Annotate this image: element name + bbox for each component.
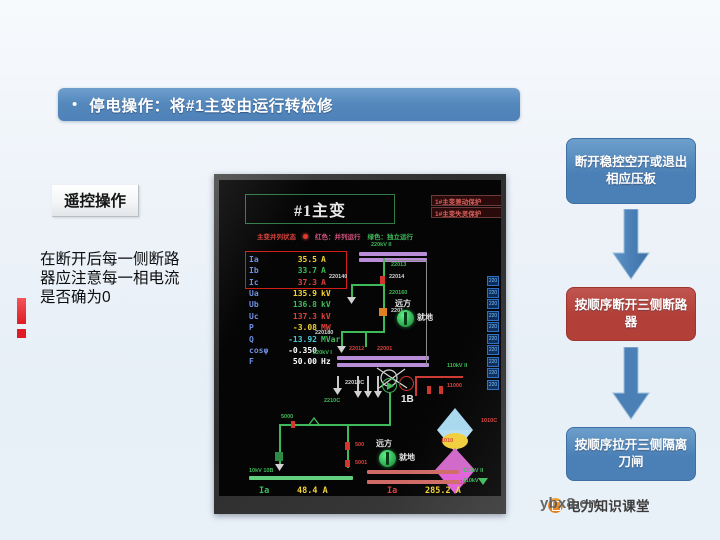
remote-operation-label: 遥控操作 [64,193,126,210]
switch-tag-11000: 11000 [447,383,462,389]
bus-label-110-i: 110kV I [463,478,482,484]
scada-screen-photo: #1主变 1#主变差动保护 1#主变失灵保护 主变并列状态 红色：并列运行 绿色… [214,174,506,514]
scada-title: #1主变 [294,197,346,221]
meas-label: Ub [249,299,275,310]
side-button[interactable]: 220 [487,345,499,355]
bottom-readout-label-1: Ia [259,486,269,496]
meas-value: 135.9 [275,288,317,299]
meas-label: Ib [249,265,275,276]
selector-knob-icon[interactable] [397,310,414,327]
scada-title-box: #1主变 [245,194,395,224]
ground-symbol-icon [346,295,357,306]
scada-legend: 主变并列状态 红色：并列运行 绿色：独立运行 [257,230,472,242]
measurement-row: Uc 137.3 kV [249,311,343,322]
breaker-aux[interactable] [439,386,443,394]
meas-unit: kV [317,299,343,310]
switch-tag-1010C: 1010C [481,418,497,424]
side-button[interactable]: 220 [487,357,499,367]
switch-tag-22010C: 22010C [345,380,364,386]
ground-symbol-icon [336,344,347,355]
selector-remote-label-1: 远方 [395,298,411,309]
protection-label-failure[interactable]: 1#主变失灵保护 [431,207,501,218]
meas-unit: A [317,254,343,265]
legend-dot-icon [303,234,308,239]
transformer-symbol-red[interactable] [399,376,414,391]
selector-knob-icon[interactable] [379,450,396,467]
busbar-110-i [367,480,459,484]
branch-line [415,376,417,396]
branch-line [389,393,391,425]
loop-line [383,260,427,261]
meas-unit: kV [317,311,343,322]
transformer-label-1b: 1B [401,394,414,405]
meas-label: cosφ [249,345,275,356]
meas-value: 137.3 [275,311,317,322]
ground-symbol-icon [274,463,285,473]
side-button-strip[interactable]: 220 220 220 220 220 220 220 220 220 220 [487,276,500,391]
breaker-2201[interactable] [379,308,387,316]
ground-symbol-icon [353,390,363,399]
meas-label: Q [249,334,275,345]
breaker-500[interactable] [345,442,350,450]
bottom-readout-value-2: 285.2 A [425,486,461,496]
protection-label-2-text: 1#主变失灵保护 [435,208,481,218]
switch-tag-5000: 5000 [281,414,293,420]
busbar-110-ii [367,470,459,474]
bus-label-10kv: 10kV 10B [249,468,273,474]
legend-red-text: 红色：并列运行 [315,231,361,241]
switch-tag-22012: 22012 [349,346,364,352]
meas-value: -13.92 [275,334,317,345]
measurement-row: Ua 135.9 kV [249,288,343,299]
watermark-url-text: ybx8.cn [540,495,597,512]
left-note-text: 在断开后每一侧断路器应注意每一相电流是否确为0 [40,250,180,308]
measurement-row: Ia 35.5 A [249,254,343,265]
measurement-row: F 50.00 Hz [249,356,343,367]
branch-line [351,284,383,286]
disconnector-icon[interactable] [307,416,321,428]
slide-root: • 停电操作：将#1主变由运行转检修 遥控操作 在断开后每一侧断路器应注意每一相… [0,0,720,540]
bottom-readout-value-1: 48.4 A [297,486,328,496]
bus-label-110-ii: 110kV II [463,468,483,474]
side-button[interactable]: 220 [487,334,499,344]
meas-label: P [249,322,275,333]
side-button[interactable]: 220 [487,299,499,309]
transformer-symbol-1b[interactable] [382,378,397,393]
watermark: 电力知识课堂 ybx8.cn [548,492,650,518]
legend-green-text: 绿色：独立运行 [368,231,414,241]
meas-label: Uc [249,311,275,322]
busbar-10kv [249,476,353,480]
slide-title-banner: • 停电操作：将#1主变由运行转检修 [58,88,520,121]
branch-line [365,331,367,347]
branch-line [279,424,391,426]
scada-display: #1主变 1#主变差动保护 1#主变失灵保护 主变并列状态 红色：并列运行 绿色… [219,180,501,496]
meas-value: 136.8 [275,299,317,310]
bus-label-110-2: 110kV II [447,363,467,369]
switch-tag-1010: 1010 [441,438,453,444]
meas-label: Ic [249,277,275,288]
exclamation-icon [16,298,28,338]
busbar-220-i [337,356,429,360]
protection-label-1-text: 1#主变差动保护 [435,196,481,206]
flow-step-2[interactable]: 按顺序断开三侧断路器 [566,287,696,341]
side-button[interactable]: 220 [487,322,499,332]
branch-line [383,316,385,332]
switch-tag-22013: 22013 [391,262,406,268]
switch-tag-500: 500 [355,442,364,448]
branch-line [383,284,385,308]
meas-unit: kV [317,288,343,299]
protection-label-differential[interactable]: 1#主变差动保护 [431,195,501,206]
side-button[interactable]: 220 [487,288,499,298]
meas-label: Ia [249,254,275,265]
meas-value: 35.5 [275,254,317,265]
switch-tag-220140: 220140 [329,274,347,280]
measurement-row: Ub 136.8 kV [249,299,343,310]
switch-tag-220180: 220180 [315,330,333,336]
legend-prefix: 主变并列状态 [257,231,296,241]
side-button[interactable]: 220 [487,380,499,390]
meas-value: 50.00 [275,356,317,367]
bus-label-220-1: 220kV I [313,350,332,356]
bottom-readout-label-2: Ia [387,486,397,496]
breaker-5001[interactable] [345,460,350,467]
side-button[interactable]: 220 [487,276,499,286]
flow-arrow-2-icon [612,347,650,421]
ground-symbol-icon [332,386,343,397]
switch-tag-5001: 5001 [355,460,367,466]
switch-tag-22001: 22001 [377,346,392,352]
side-button[interactable]: 220 [487,368,499,378]
selector-local-label-2: 就地 [399,452,415,463]
branch-line [341,331,385,333]
meas-value: 37.3 [275,277,317,288]
breaker-11000[interactable] [427,386,431,394]
selector-remote-label-2: 远方 [376,438,392,449]
ground-symbol-icon [363,390,373,399]
remote-operation-label-box: 遥控操作 [52,185,139,217]
meas-value: -3.08 [275,322,317,333]
branch-line [279,424,281,468]
switch-tag-22014: 22014 [389,274,404,280]
flow-step-1[interactable]: 断开稳控空开或退出相应压板 [566,138,696,204]
flow-step-3-label: 按顺序拉开三侧隔离刀闸 [573,437,689,471]
busbar-220-ii [359,252,427,256]
meas-value: -0.350 [275,345,317,356]
flow-step-1-label: 断开稳控空开或退出相应压板 [573,154,689,188]
meas-label: Ua [249,288,275,299]
selector-local-label-1: 就地 [417,312,433,323]
page-title: 停电操作：将#1主变由运行转检修 [89,94,333,116]
switch-tag-2210C: 2210C [324,398,340,404]
flow-step-3[interactable]: 按顺序拉开三侧隔离刀闸 [566,427,696,481]
title-bullet-icon: • [72,97,77,112]
flow-arrow-1-icon [612,209,650,281]
side-button[interactable]: 220 [487,311,499,321]
flow-step-2-label: 按顺序断开三侧断路器 [573,297,689,331]
meas-value: 33.7 [275,265,317,276]
earthing-switch[interactable] [275,452,283,461]
switch-tag-220160: 220160 [389,290,407,296]
watermark-url: ybx8.cn [540,495,597,512]
branch-line [415,376,463,378]
breaker-5000[interactable] [291,421,295,428]
bus-label-220-2: 220kV II [371,242,392,248]
meas-label: F [249,356,275,367]
